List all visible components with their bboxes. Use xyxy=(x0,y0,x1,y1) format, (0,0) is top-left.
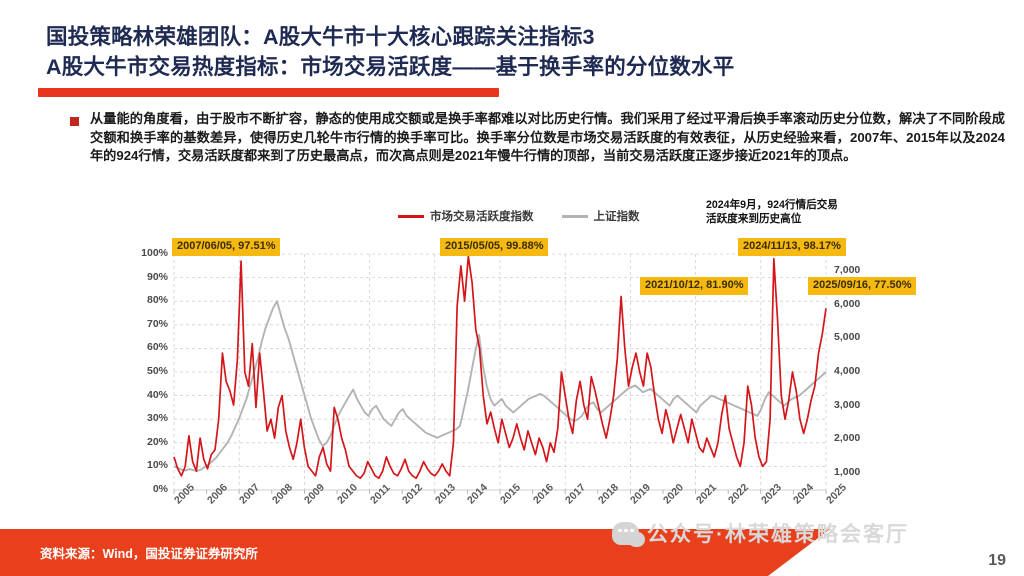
chart-note-2024-line1: 2024年9月，924行情后交易 xyxy=(706,198,838,212)
y-axis-left-tick: 60% xyxy=(128,341,168,353)
title-line-1: 国投策略林荣雄团队：A股大牛市十大核心跟踪关注指标3 xyxy=(46,22,1006,52)
y-axis-left-tick: 20% xyxy=(128,436,168,448)
body-paragraph: 从量能的角度看，由于股市不断扩容，静态的使用成交额或是换手率都难以对比历史行情。… xyxy=(90,110,1005,166)
body-bullet: 从量能的角度看，由于股市不断扩容，静态的使用成交额或是换手率都难以对比历史行情。… xyxy=(70,110,1010,166)
legend-item-activity: 市场交易活跃度指数 xyxy=(398,208,534,224)
annotation-peak-2007: 2007/06/05, 97.51% xyxy=(172,238,280,256)
legend-swatch-activity xyxy=(398,215,424,218)
title-underline xyxy=(38,88,499,97)
legend-swatch-index xyxy=(562,215,588,218)
y-axis-right-tick: 6,000 xyxy=(834,298,880,310)
y-axis-right-tick: 2,000 xyxy=(834,432,880,444)
legend-label-activity: 市场交易活跃度指数 xyxy=(430,208,534,224)
y-axis-left-tick: 10% xyxy=(128,459,168,471)
y-axis-right-tick: 5,000 xyxy=(834,331,880,343)
y-axis-left-tick: 70% xyxy=(128,318,168,330)
y-axis-right-tick: 4,000 xyxy=(834,365,880,377)
annotation-peak-2021: 2021/10/12, 81.90% xyxy=(640,277,748,295)
y-axis-left-tick: 30% xyxy=(128,412,168,424)
y-axis-right-tick: 3,000 xyxy=(834,399,880,411)
chart-market-activity: 市场交易活跃度指数 上证指数 100%90%80%70%60%50%40%30%… xyxy=(118,192,918,522)
annotation-current-2025: 2025/09/16, 77.50% xyxy=(808,277,916,295)
y-axis-left-tick: 100% xyxy=(128,247,168,259)
title-line-2: A股大牛市交易热度指标：市场交易活跃度——基于换手率的分位数水平 xyxy=(46,52,1006,82)
chart-note-2024-line2: 活跃度来到历史高位 xyxy=(706,212,838,226)
annotation-peak-2015: 2015/05/05, 99.88% xyxy=(440,238,548,256)
bullet-square-icon xyxy=(70,117,79,126)
y-axis-left-tick: 50% xyxy=(128,365,168,377)
y-axis-right-tick: 1,000 xyxy=(834,466,880,478)
slide: 国投策略林荣雄团队：A股大牛市十大核心跟踪关注指标3 A股大牛市交易热度指标：市… xyxy=(0,0,1024,576)
y-axis-left-tick: 90% xyxy=(128,271,168,283)
y-axis-left-tick: 80% xyxy=(128,294,168,306)
annotation-peak-2024: 2024/11/13, 98.17% xyxy=(738,238,846,256)
legend-label-index: 上证指数 xyxy=(594,208,640,224)
legend-item-index: 上证指数 xyxy=(562,208,640,224)
chart-legend: 市场交易活跃度指数 上证指数 xyxy=(398,208,640,224)
y-axis-right-tick: 7,000 xyxy=(834,264,880,276)
y-axis-left-tick: 0% xyxy=(128,483,168,495)
page-number: 19 xyxy=(988,552,1006,570)
y-axis-left-tick: 40% xyxy=(128,389,168,401)
page-title: 国投策略林荣雄团队：A股大牛市十大核心跟踪关注指标3 A股大牛市交易热度指标：市… xyxy=(46,22,1006,82)
footer-source: 资料来源：Wind，国投证券证券研究所 xyxy=(40,543,258,562)
chart-note-2024: 2024年9月，924行情后交易 活跃度来到历史高位 xyxy=(706,198,838,226)
